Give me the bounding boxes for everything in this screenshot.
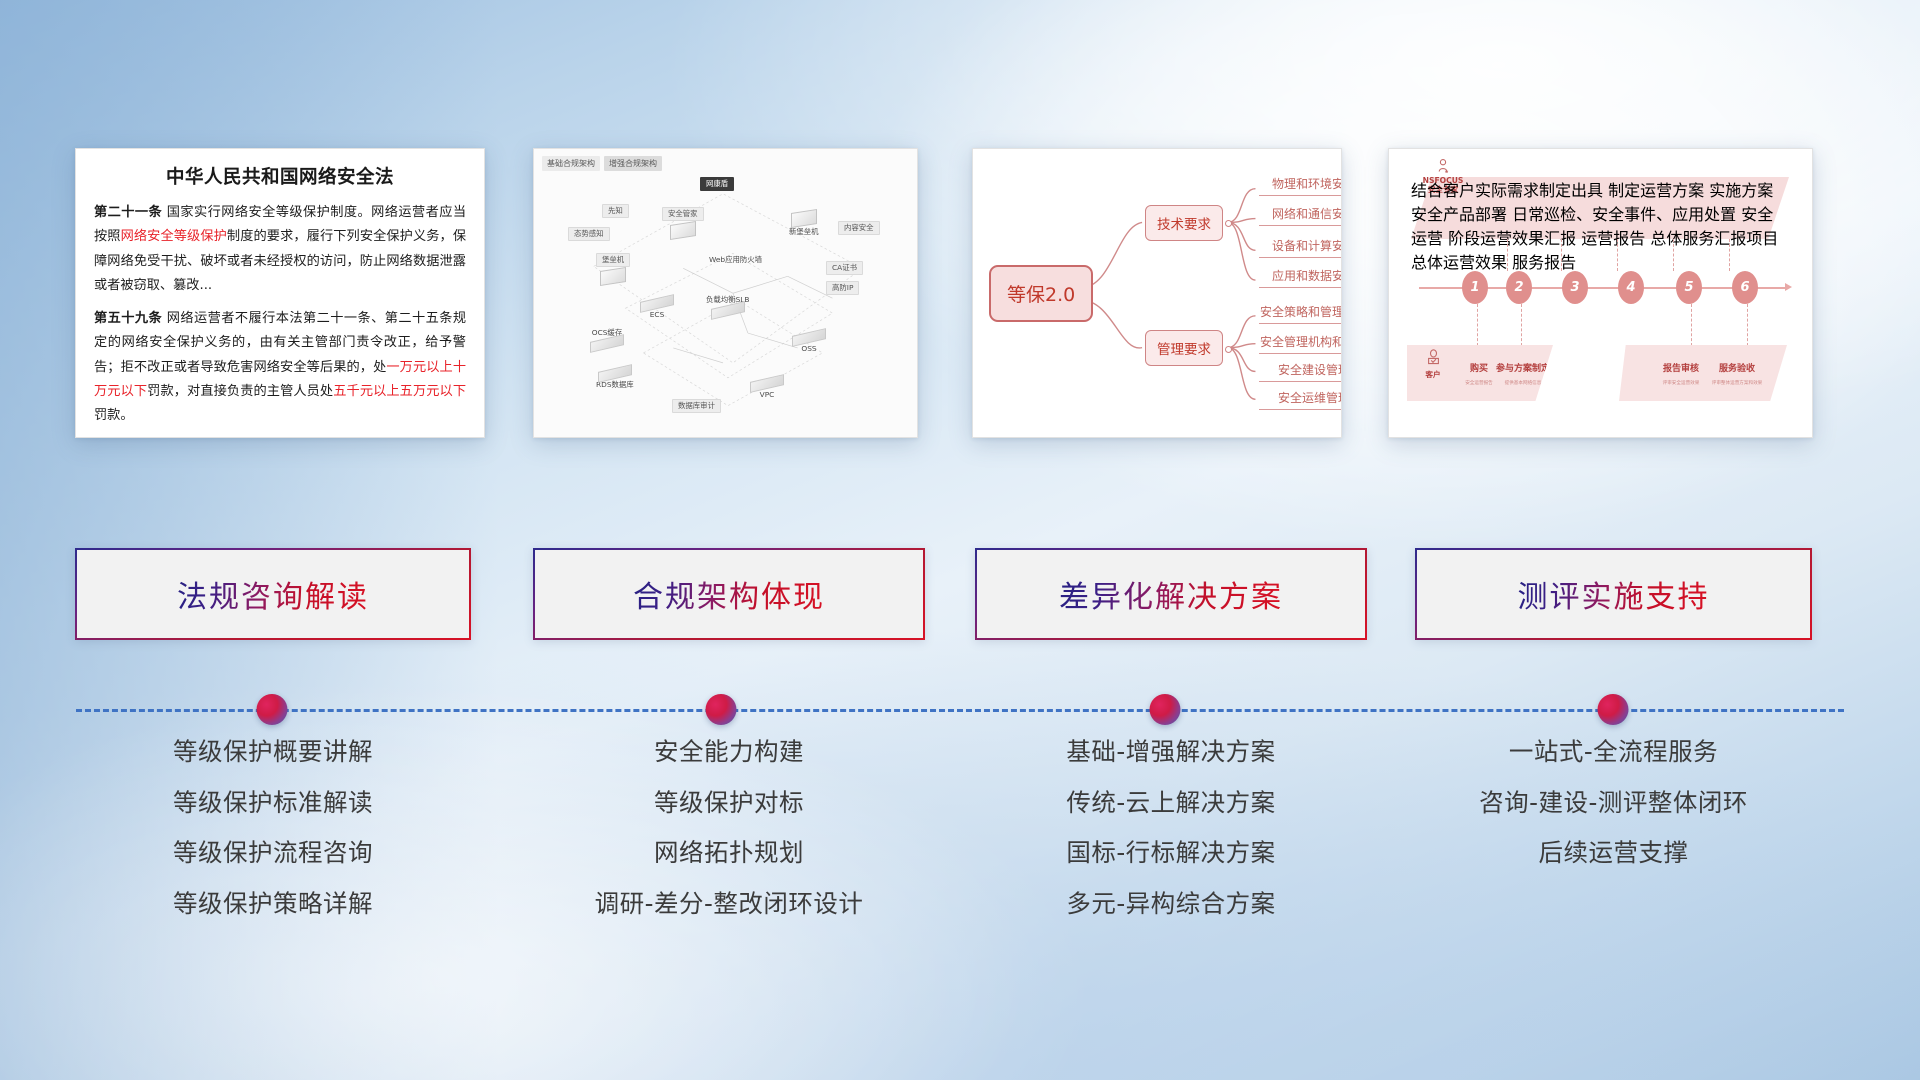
arch-node-15-label: 数据库审计 <box>672 399 721 413</box>
connector-dash-bottom-3 <box>1691 304 1692 346</box>
mindmap-collapse-dot-technical[interactable] <box>1225 220 1232 227</box>
arch-node-12-label: RDS数据库 <box>596 381 634 389</box>
customer-phase-0-sub: 安全运营报告 <box>1465 380 1493 386</box>
customer-phase-3-name[interactable]: 服务验收 <box>1719 361 1755 374</box>
feature-item-2-0[interactable]: 安全能力构建 <box>533 740 925 765</box>
feature-columns: 等级保护概要讲解 等级保护标准解读 等级保护流程咨询 等级保护策略详解 安全能力… <box>0 740 1920 970</box>
provider-phase-1-sub: 实施方案 <box>1709 181 1773 200</box>
arch-node-5-shape-icon <box>791 209 817 228</box>
feature-item-1-2[interactable]: 等级保护流程咨询 <box>75 841 471 866</box>
arch-node-4-shape-icon <box>600 267 626 286</box>
connector-dash-top-1 <box>1507 239 1508 271</box>
customer-phase-0-name[interactable]: 购买 <box>1470 361 1488 374</box>
mindmap-branch-management[interactable]: 管理要求 <box>1145 330 1223 366</box>
provider-phase-1-name[interactable]: 安全产品部署 <box>1411 205 1507 224</box>
feature-column-4: 一站式-全流程服务 咨询-建设-测评整体闭环 后续运营支撑 <box>1415 740 1812 892</box>
mindmap-leaf-mgmt-0[interactable]: 安全策略和管理制度 <box>1259 303 1342 324</box>
feature-item-3-1[interactable]: 传统-云上解决方案 <box>975 791 1367 816</box>
customer-phase-1-sub: 提供基本网络信息 <box>1505 380 1542 386</box>
customer-phase-3-sub: 评审整体运营方案和效果 <box>1712 380 1763 386</box>
feature-item-2-2[interactable]: 网络拓扑规划 <box>533 841 925 866</box>
law-title: 中华人民共和国网络安全法 <box>94 163 466 189</box>
customer-phase-2-sub: 评审安全运营效果 <box>1663 380 1700 386</box>
headline-text-1: 法规咨询解读 <box>177 572 369 616</box>
law-article-59-text-c: 罚款。 <box>94 408 134 423</box>
card-law-excerpt[interactable]: 中华人民共和国网络安全法 第二十一条 国家实行网络安全等级保护制度。网络运营者应… <box>75 148 485 438</box>
arch-node-2-label: 先知 <box>602 204 629 218</box>
mindmap-leaf-mgmt-1[interactable]: 安全管理机构和人员 <box>1259 333 1342 354</box>
mindmap-branch-technical[interactable]: 技术要求 <box>1145 205 1223 241</box>
connector-dash-top-3 <box>1617 239 1618 271</box>
mindmap-canvas: 等保2.0 技术要求 管理要求 物理和环境安全 网络和通信安全 设备和计算安全 … <box>973 149 1341 437</box>
arch-node-14-label: VPC <box>750 391 784 399</box>
arch-node-14[interactable]: VPC <box>750 377 784 399</box>
feature-item-3-0[interactable]: 基础-增强解决方案 <box>975 740 1367 765</box>
mindmap-leaf-tech-2[interactable]: 设备和计算安全 <box>1259 237 1342 258</box>
feature-item-3-2[interactable]: 国标-行标解决方案 <box>975 841 1367 866</box>
mindmap-leaf-tech-0[interactable]: 物理和环境安全 <box>1259 175 1342 196</box>
arch-node-4[interactable]: 堡垒机 <box>596 253 630 284</box>
arch-node-12[interactable]: RDS数据库 <box>596 367 634 389</box>
arch-node-7-label: Web应用防火墙 <box>709 256 762 264</box>
feature-item-2-3[interactable]: 调研-差分-整改闭环设计 <box>533 892 925 917</box>
dashed-timeline <box>0 690 1920 730</box>
mindmap-center-node[interactable]: 等保2.0 <box>989 265 1093 322</box>
arch-node-0[interactable]: 网康盾 <box>700 177 734 191</box>
law-article-21: 第二十一条 国家实行网络安全等级保护制度。网络运营者应当按照网络安全等级保护制度… <box>94 201 466 299</box>
arch-node-10[interactable]: 高防IP <box>826 281 859 295</box>
headline-box-3[interactable]: 差异化解决方案 <box>975 548 1367 640</box>
mindmap-leaf-tech-3[interactable]: 应用和数据安全 <box>1259 267 1342 288</box>
law-article-59-text-b: 罚款，对直接负责的主管人员处 <box>147 384 333 399</box>
headline-text-4: 测评实施支持 <box>1518 572 1710 616</box>
arch-node-1[interactable]: 安全管家 <box>662 207 704 238</box>
arch-node-2[interactable]: 先知 <box>602 204 629 218</box>
mindmap-collapse-dot-management[interactable] <box>1225 346 1232 353</box>
feature-item-2-1[interactable]: 等级保护对标 <box>533 791 925 816</box>
arch-node-16-label: 内容安全 <box>838 221 880 235</box>
timeline-step-1[interactable]: 1 <box>1462 271 1488 304</box>
timeline-marker-3[interactable] <box>1150 694 1181 725</box>
headline-box-4[interactable]: 测评实施支持 <box>1415 548 1812 640</box>
arch-node-13-label: OSS <box>792 345 826 353</box>
timeline-marker-1[interactable] <box>257 694 288 725</box>
connector-dash-bottom-2 <box>1521 304 1522 346</box>
timeline-marker-2[interactable] <box>706 694 737 725</box>
feature-column-2: 安全能力构建 等级保护对标 网络拓扑规划 调研-差分-整改闭环设计 <box>533 740 925 942</box>
law-body: 中华人民共和国网络安全法 第二十一条 国家实行网络安全等级保护制度。网络运营者应… <box>76 149 484 438</box>
arch-node-0-label: 网康盾 <box>700 177 734 191</box>
provider-phase-3-name[interactable]: 运营报告 <box>1581 229 1645 248</box>
arch-node-8[interactable]: 负载均衡SLB <box>706 294 749 316</box>
provider-phase-0-sub: 结合客户实际需求制定出具 <box>1411 181 1603 200</box>
timeline-step-6[interactable]: 6 <box>1732 271 1758 304</box>
law-article-59-label: 第五十九条 <box>94 311 162 326</box>
headline-box-1[interactable]: 法规咨询解读 <box>75 548 471 640</box>
arch-node-3-label: 态势感知 <box>568 227 610 241</box>
architecture-canvas: 基础合规架构 增强合规架构 <box>534 149 917 437</box>
preview-cards-row: 中华人民共和国网络安全法 第二十一条 国家实行网络安全等级保护制度。网络运营者应… <box>0 148 1920 448</box>
arch-node-6-label: ECS <box>640 311 674 319</box>
mindmap-leaf-mgmt-2[interactable]: 安全建设管理 <box>1259 361 1342 382</box>
law-article-59-highlight-b: 五千元以上五万元以下 <box>333 384 466 399</box>
provider-phase-3-sub: 阶段运营效果汇报 <box>1448 229 1576 248</box>
mindmap-leaf-mgmt-3[interactable]: 安全运维管理 <box>1259 389 1342 410</box>
arch-node-13[interactable]: OSS <box>792 331 826 353</box>
feature-item-4-1[interactable]: 咨询-建设-测评整体闭环 <box>1415 791 1812 816</box>
feature-item-1-1[interactable]: 等级保护标准解读 <box>75 791 471 816</box>
mindmap-leaf-tech-1[interactable]: 网络和通信安全 <box>1259 205 1342 226</box>
customer-person-icon <box>1426 349 1441 367</box>
feature-item-4-0[interactable]: 一站式-全流程服务 <box>1415 740 1812 765</box>
connector-dash-top-2 <box>1561 239 1562 271</box>
customer-phase-1-name[interactable]: 参与方案制定 <box>1496 361 1550 374</box>
arch-node-4-label: 堡垒机 <box>596 253 630 267</box>
arch-node-6[interactable]: ECS <box>640 297 674 319</box>
provider-phase-labels: 结合客户实际需求制定出具 制定运营方案 实施方案 安全产品部署 日常巡检、安全事… <box>1411 177 1789 239</box>
provider-phase-4-name[interactable]: 服务报告 <box>1512 253 1576 272</box>
feature-item-1-3[interactable]: 等级保护策略详解 <box>75 892 471 917</box>
arch-node-10-label: 高防IP <box>826 281 859 295</box>
arch-node-5-label: 新堡垒机 <box>789 228 819 236</box>
arch-node-15[interactable]: 数据库审计 <box>672 399 721 413</box>
timeline-step-4[interactable]: 4 <box>1618 271 1644 304</box>
customer-label-group: 客户 <box>1411 349 1455 380</box>
arch-node-9[interactable]: CA证书 <box>826 261 863 275</box>
feature-column-1: 等级保护概要讲解 等级保护标准解读 等级保护流程咨询 等级保护策略详解 <box>75 740 471 942</box>
customer-label: 客户 <box>1425 370 1440 379</box>
arch-node-11[interactable]: OCS缓存 <box>590 327 624 349</box>
connector-dash-top-5 <box>1729 239 1730 271</box>
timeline-step-2[interactable]: 2 <box>1506 271 1532 304</box>
headline-text-3: 差异化解决方案 <box>1059 572 1283 616</box>
expert-person-icon <box>1435 158 1451 174</box>
headline-box-2[interactable]: 合规架构体现 <box>533 548 925 640</box>
headline-row: 法规咨询解读 合规架构体现 差异化解决方案 测评实施支持 <box>0 548 1920 640</box>
provider-phase-2-sub: 日常巡检、安全事件、应用处置 <box>1512 205 1736 224</box>
arch-node-5[interactable]: 新堡垒机 <box>789 209 819 236</box>
timeline-canvas: NSFOCUS 安全专家 结合客户实际需求制定出具 制定运营方案 实施方案 安全… <box>1389 149 1812 437</box>
law-article-59: 第五十九条 网络运营者不履行本法第二十一条、第二十五条规定的网络安全保护义务的，… <box>94 307 466 429</box>
connector-dash-bottom-1 <box>1477 304 1478 346</box>
card-architecture-diagram[interactable]: 基础合规架构 增强合规架构 <box>533 148 918 438</box>
slide-stage: 中华人民共和国网络安全法 第二十一条 国家实行网络安全等级保护制度。网络运营者应… <box>0 0 1920 1080</box>
timeline-dashed-line <box>76 709 1844 712</box>
provider-phase-0-name[interactable]: 制定运营方案 <box>1608 181 1704 200</box>
timeline-arrow-icon <box>1785 283 1792 291</box>
feature-item-3-3[interactable]: 多元-异构综合方案 <box>975 892 1367 917</box>
arch-node-1-shape-icon <box>670 221 696 240</box>
law-article-21-label: 第二十一条 <box>94 205 162 220</box>
arch-node-16[interactable]: 内容安全 <box>838 221 880 235</box>
connector-dash-top-4 <box>1673 239 1674 271</box>
customer-tray-right: 报告审核 评审安全运营效果 服务验收 评审整体运营方案和效果 <box>1619 345 1787 401</box>
arch-node-7[interactable]: Web应用防火墙 <box>709 254 762 264</box>
headline-text-2: 合规架构体现 <box>633 572 825 616</box>
card-service-timeline[interactable]: NSFOCUS 安全专家 结合客户实际需求制定出具 制定运营方案 实施方案 安全… <box>1388 148 1813 438</box>
connector-dash-bottom-4 <box>1747 304 1748 346</box>
arch-node-3[interactable]: 态势感知 <box>568 227 610 241</box>
arch-node-9-label: CA证书 <box>826 261 863 275</box>
feature-item-1-0[interactable]: 等级保护概要讲解 <box>75 740 471 765</box>
law-article-21-highlight: 网络安全等级保护 <box>121 229 227 244</box>
feature-item-4-2[interactable]: 后续运营支撑 <box>1415 841 1812 866</box>
card-mindmap[interactable]: 等保2.0 技术要求 管理要求 物理和环境安全 网络和通信安全 设备和计算安全 … <box>972 148 1342 438</box>
timeline-step-5[interactable]: 5 <box>1676 271 1702 304</box>
feature-column-3: 基础-增强解决方案 传统-云上解决方案 国标-行标解决方案 多元-异构综合方案 <box>975 740 1367 942</box>
customer-phase-2-name[interactable]: 报告审核 <box>1663 361 1699 374</box>
timeline-step-3[interactable]: 3 <box>1562 271 1588 304</box>
arch-node-1-label: 安全管家 <box>662 207 704 221</box>
timeline-marker-4[interactable] <box>1598 694 1629 725</box>
